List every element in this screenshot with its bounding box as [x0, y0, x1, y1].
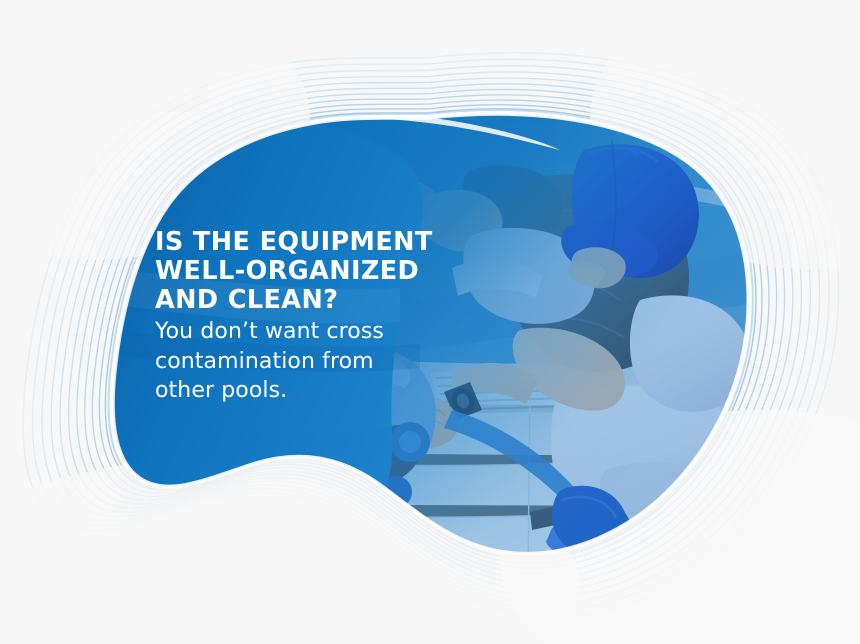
- promo-card-artwork: [0, 0, 860, 644]
- promo-card-canvas: IS THE EQUIPMENT WELL-ORGANIZED AND CLEA…: [0, 0, 860, 644]
